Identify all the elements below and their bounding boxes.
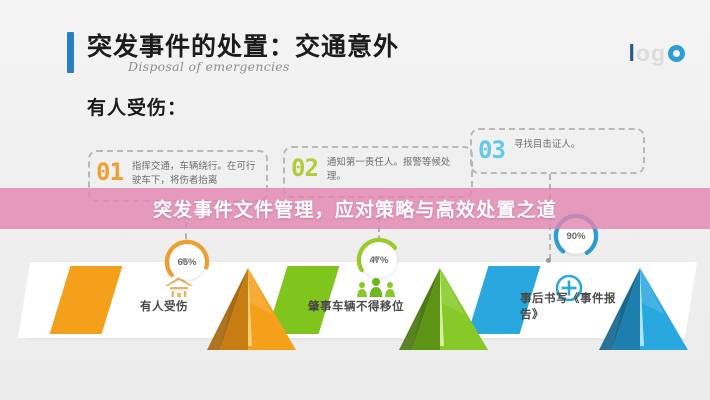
logo-letter-l: l bbox=[629, 40, 636, 67]
step-number-02: 02 bbox=[291, 156, 318, 180]
page-subtitle-english: Disposal of emergencies bbox=[128, 59, 290, 74]
step-text-01: 指挥交通，车辆绕行。在可行驶车下，将伤者抬离 bbox=[132, 158, 258, 188]
percent-badge-1: 65% bbox=[163, 238, 211, 286]
overlay-banner-text: 突发事件文件管理，应对策略与高效处置之道 bbox=[153, 195, 557, 222]
step-number-03: 03 bbox=[478, 138, 505, 162]
title-accent-bar bbox=[67, 32, 74, 73]
slide-canvas: 突发事件的处置：交通意外 Disposal of emergencies l o… bbox=[0, 0, 710, 400]
band-label-3: 事后书写《事件报告》 bbox=[520, 292, 628, 323]
percent-value-2: 47% bbox=[369, 255, 388, 266]
logo-ring-icon bbox=[668, 45, 685, 62]
connector-dot-3 bbox=[546, 258, 551, 263]
percent-disc-2: 47% bbox=[361, 242, 397, 278]
logo-letters-og: og bbox=[636, 40, 666, 67]
band-label-2: 肇事车辆不得移位 bbox=[308, 300, 438, 316]
step-text-02: 通知第一责任人。报警等候处理。 bbox=[327, 154, 463, 184]
connector-dot-1 bbox=[182, 258, 187, 263]
percent-value-1: 65% bbox=[177, 257, 196, 268]
percent-badge-2: 47% bbox=[355, 236, 403, 284]
percent-disc-1: 65% bbox=[169, 244, 205, 280]
logo: l og bbox=[629, 40, 686, 67]
section-heading: 有人受伤： bbox=[87, 93, 187, 120]
percent-value-3: 90% bbox=[566, 231, 585, 242]
band-label-1: 有人受伤 bbox=[140, 300, 250, 316]
step-text-03: 寻找目击证人。 bbox=[514, 136, 581, 152]
step-number-01: 01 bbox=[96, 160, 123, 184]
step-box-03: 03 寻找目击证人。 bbox=[470, 128, 645, 174]
connector-dot-2 bbox=[374, 256, 379, 261]
page-title: 突发事件的处置：交通意外 bbox=[87, 27, 399, 63]
overlay-banner: 突发事件文件管理，应对策略与高效处置之道 bbox=[0, 188, 710, 229]
